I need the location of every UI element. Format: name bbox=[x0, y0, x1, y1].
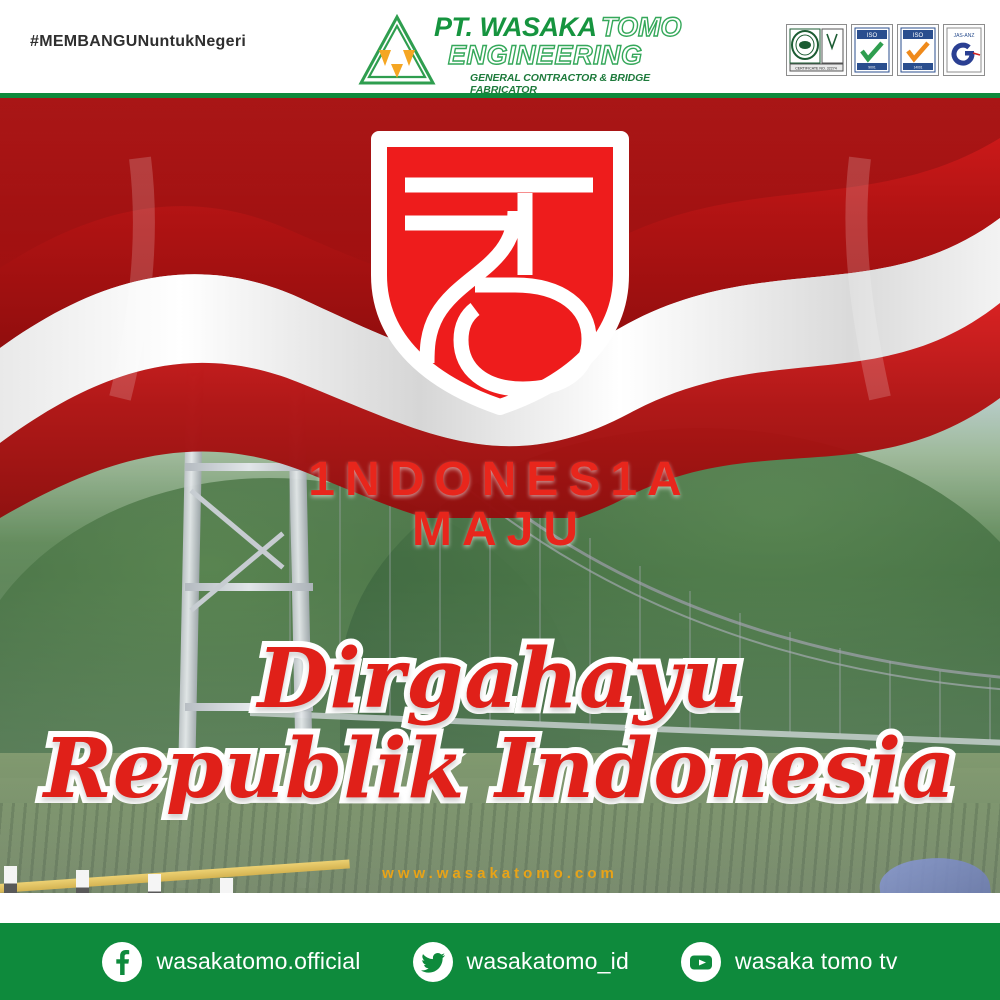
certification-badges: CERTIFICATE NO. 32274 ISO 9001 bbox=[786, 24, 985, 76]
company-logo: PT. WASAKA TOMO ENGINEERING GENERAL CONT… bbox=[358, 8, 698, 90]
headline-indonesia-maju: 1NDONES1A MAJU bbox=[0, 455, 1000, 556]
social-twitter[interactable]: wasakatomo_id bbox=[413, 942, 629, 982]
social-facebook[interactable]: wasakatomo.official bbox=[102, 942, 360, 982]
website-url[interactable]: www.wasakatomo.com bbox=[0, 865, 1000, 893]
campaign-hashtag: #MEMBANGUNuntukNegeri bbox=[30, 33, 246, 51]
website-url-text[interactable]: www.wasakatomo.com bbox=[382, 865, 618, 882]
header-bar: #MEMBANGUNuntukNegeri PT. WASAKA TOMO EN… bbox=[0, 0, 1000, 97]
social-youtube[interactable]: wasaka tomo tv bbox=[681, 942, 898, 982]
iso-certificate-badge: CERTIFICATE NO. 32274 bbox=[786, 24, 847, 76]
iso-14001-badge: ISO 14001 bbox=[897, 24, 939, 76]
logo-company-suffix: TOMO bbox=[601, 12, 682, 42]
logo-company-name: PT. WASAKA bbox=[434, 12, 597, 42]
logo-line-1: PT. WASAKA TOMO bbox=[434, 12, 698, 40]
facebook-handle[interactable]: wasakatomo.official bbox=[156, 948, 360, 975]
green-triangle-logo-icon bbox=[358, 14, 436, 86]
jas-anz-badge: JAS-ANZ bbox=[943, 24, 985, 76]
svg-text:CERTIFICATE NO. 32274: CERTIFICATE NO. 32274 bbox=[795, 67, 837, 71]
header-divider bbox=[0, 93, 1000, 98]
twitter-handle[interactable]: wasakatomo_id bbox=[467, 948, 629, 975]
greeting-line-1: Dirgahayu bbox=[0, 638, 1000, 720]
footer-social-bar: wasakatomo.official wasakatomo_id wasaka… bbox=[0, 923, 1000, 1000]
headline-line-1: 1NDONES1A bbox=[0, 455, 1000, 505]
logo-subname: ENGINEERING bbox=[448, 40, 643, 71]
svg-text:9001: 9001 bbox=[868, 66, 876, 70]
logo-wordmark: PT. WASAKA TOMO ENGINEERING GENERAL CONT… bbox=[434, 8, 698, 90]
youtube-icon[interactable] bbox=[681, 942, 721, 982]
greeting-script: Dirgahayu Republik Indonesia bbox=[0, 638, 1000, 812]
hashtag-light-part: untukNegeri bbox=[149, 33, 246, 50]
greeting-line-2: Republik Indonesia bbox=[0, 726, 1000, 812]
iso-9001-badge: ISO 9001 bbox=[851, 24, 893, 76]
svg-text:14001: 14001 bbox=[914, 66, 923, 70]
facebook-icon[interactable] bbox=[102, 942, 142, 982]
svg-text:ISO: ISO bbox=[867, 33, 878, 39]
indonesia-75-shield-emblem bbox=[365, 125, 635, 415]
headline-line-2: MAJU bbox=[0, 505, 1000, 555]
poster-root: #MEMBANGUNuntukNegeri PT. WASAKA TOMO EN… bbox=[0, 0, 1000, 1000]
twitter-icon[interactable] bbox=[413, 942, 453, 982]
hashtag-bold-part: #MEMBANGUN bbox=[30, 33, 149, 50]
svg-text:JAS-ANZ: JAS-ANZ bbox=[954, 33, 975, 39]
svg-text:ISO: ISO bbox=[913, 33, 924, 39]
youtube-handle[interactable]: wasaka tomo tv bbox=[735, 948, 898, 975]
bottom-white-gap bbox=[0, 893, 1000, 923]
